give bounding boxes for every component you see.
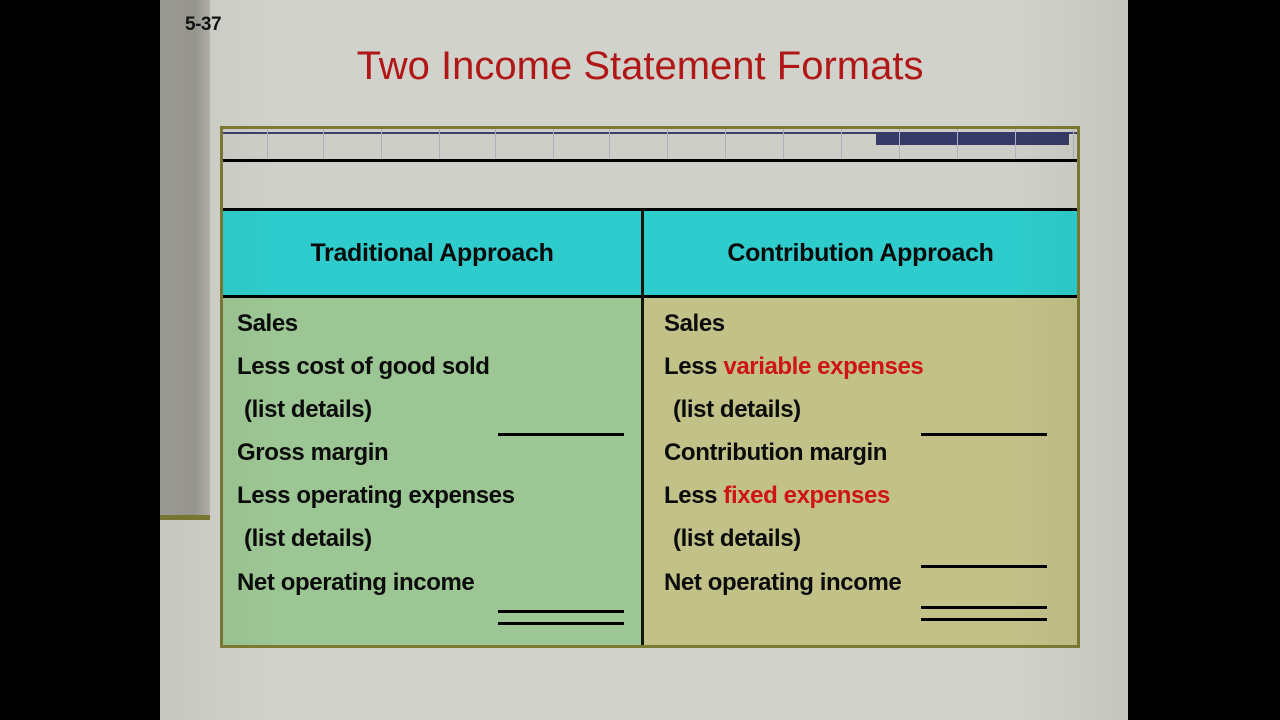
spreadsheet-blank-title-row[interactable] bbox=[223, 162, 1077, 211]
column-gridline-0 bbox=[267, 129, 268, 160]
column-header-contribution: Contribution Approach bbox=[644, 211, 1077, 298]
subtotal-rule bbox=[498, 433, 624, 436]
column-body-contribution: Sales Less variable expenses (list detai… bbox=[644, 298, 1077, 645]
left-band-fill bbox=[160, 0, 210, 515]
list-item: Less fixed expenses bbox=[664, 482, 890, 510]
embedded-spreadsheet-object[interactable]: Traditional Approach Sales Less cost of … bbox=[220, 126, 1080, 648]
list-item-prefix: Less bbox=[664, 353, 723, 380]
spreadsheet-column-header-bar[interactable] bbox=[223, 129, 1077, 162]
list-item-emphasis: fixed expenses bbox=[723, 482, 890, 509]
column-gridline-4 bbox=[495, 129, 496, 160]
table-column-contribution: Contribution Approach Sales Less variabl… bbox=[644, 211, 1077, 645]
column-gridline-2 bbox=[381, 129, 382, 160]
total-double-rule bbox=[498, 610, 624, 625]
column-gridline-13 bbox=[1015, 129, 1016, 160]
list-item: (list details) bbox=[673, 396, 801, 424]
video-frame: 5-37 Two Income Statement Formats Tradit… bbox=[0, 0, 1280, 720]
column-gridline-12 bbox=[957, 129, 958, 160]
list-item-prefix: Less bbox=[664, 482, 723, 509]
list-item-emphasis: variable expenses bbox=[723, 353, 923, 380]
column-gridline-9 bbox=[783, 129, 784, 160]
table-column-traditional: Traditional Approach Sales Less cost of … bbox=[223, 211, 644, 645]
list-item: Sales bbox=[664, 310, 725, 338]
list-item: Net operating income bbox=[237, 569, 474, 597]
list-item: Less variable expenses bbox=[664, 353, 923, 381]
column-gridline-7 bbox=[667, 129, 668, 160]
presentation-slide: 5-37 Two Income Statement Formats Tradit… bbox=[160, 0, 1128, 720]
subtotal-rule bbox=[921, 565, 1047, 568]
column-gridline-6 bbox=[609, 129, 610, 160]
list-item: Less cost of good sold bbox=[237, 353, 490, 381]
list-item: Net operating income bbox=[664, 569, 901, 597]
list-item: Less operating expenses bbox=[237, 482, 515, 510]
total-double-rule bbox=[921, 606, 1047, 621]
column-gridline-1 bbox=[323, 129, 324, 160]
comparison-table: Traditional Approach Sales Less cost of … bbox=[223, 211, 1077, 645]
page-title: Two Income Statement Formats bbox=[220, 44, 1060, 89]
column-gridline-5 bbox=[553, 129, 554, 160]
list-item: (list details) bbox=[673, 525, 801, 553]
column-gridline-10 bbox=[841, 129, 842, 160]
column-body-traditional: Sales Less cost of good sold (list detai… bbox=[223, 298, 641, 645]
column-gridline-8 bbox=[725, 129, 726, 160]
list-item: (list details) bbox=[244, 396, 372, 424]
column-header-traditional: Traditional Approach bbox=[223, 211, 641, 298]
column-gridline-14 bbox=[1073, 129, 1074, 160]
slide-number: 5-37 bbox=[185, 14, 221, 36]
list-item: Gross margin bbox=[237, 439, 388, 467]
slide-decoration-left-band bbox=[160, 0, 210, 520]
list-item: Contribution margin bbox=[664, 439, 887, 467]
column-gridline-3 bbox=[439, 129, 440, 160]
selected-cell-range-highlight[interactable] bbox=[876, 132, 1069, 145]
subtotal-rule bbox=[921, 433, 1047, 436]
column-gridline-11 bbox=[899, 129, 900, 160]
list-item: Sales bbox=[237, 310, 298, 338]
list-item: (list details) bbox=[244, 525, 372, 553]
